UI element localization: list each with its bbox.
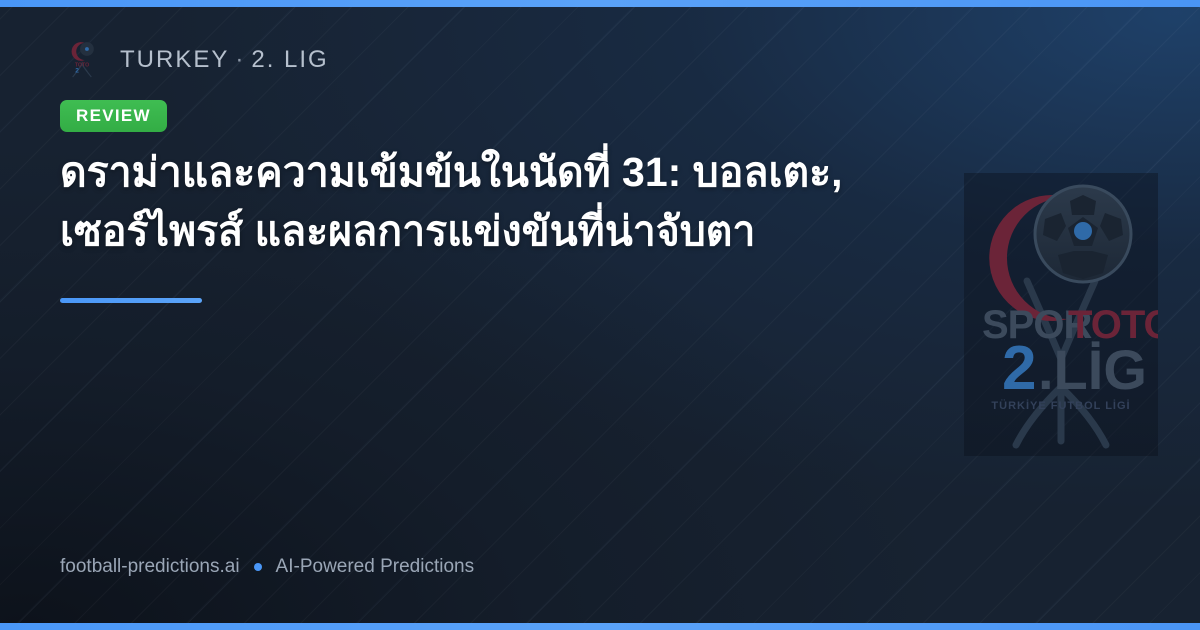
league-header-text: TURKEY·2. LIG [120,46,329,74]
league-header: TOTO 2 TURKEY·2. LIG [60,38,329,82]
title-divider [60,298,202,303]
league-label: 2. LIG [251,46,328,73]
card-footer: football-predictions.ai AI-Powered Predi… [60,556,474,578]
header-separator: · [229,46,251,73]
dot-icon [254,563,262,571]
league-logo-panel: SPOR TOTO 2 .LİG TÜRKİYE FUTBOL LİGİ [964,173,1158,456]
spor-toto-2-lig-badge: SPOR TOTO 2 .LİG TÜRKİYE FUTBOL LİGİ [964,173,1158,456]
page-title: ดราม่าและความเข้มข้นในนัดที่ 31: บอลเตะ,… [60,143,920,261]
svg-text:TÜRKİYE FUTBOL LİGİ: TÜRKİYE FUTBOL LİGİ [991,399,1130,412]
social-share-card: TOTO 2 TURKEY·2. LIG REVIEW ดราม่าและควา… [0,0,1200,630]
card-content: TOTO 2 TURKEY·2. LIG REVIEW ดราม่าและควา… [60,0,940,630]
country-label: TURKEY [120,46,229,73]
spor-toto-2-lig-logo-icon: TOTO 2 [60,38,104,82]
svg-text:.LİG: .LİG [1038,338,1147,401]
status-badge: REVIEW [60,100,167,132]
tagline: AI-Powered Predictions [276,556,475,578]
site-name: football-predictions.ai [60,556,240,578]
svg-text:2: 2 [75,68,79,75]
svg-text:2: 2 [1002,334,1036,403]
